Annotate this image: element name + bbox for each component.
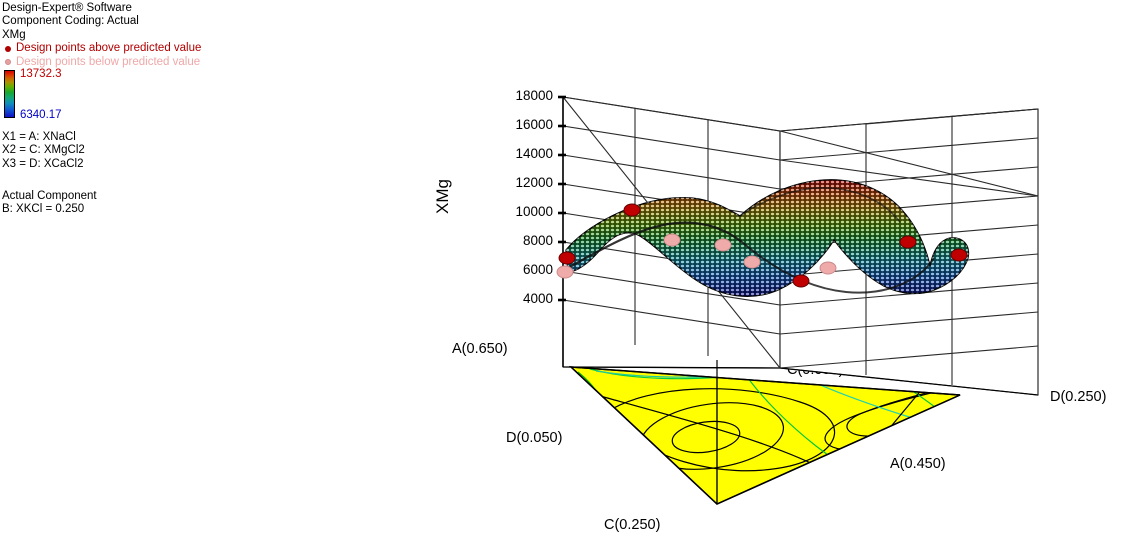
z-axis-tick-18000: 18000 bbox=[493, 89, 553, 103]
legend-panel: Design-Expert® Software Component Coding… bbox=[2, 2, 302, 69]
z-axis-title: XMg bbox=[433, 179, 453, 214]
variable-x1: X1 = A: XNaCl bbox=[2, 131, 262, 144]
color-scale-min-value: 6340.17 bbox=[20, 109, 62, 121]
z-axis-tick-12000: 12000 bbox=[493, 176, 553, 190]
design-point-below bbox=[744, 256, 760, 268]
component-coding: Component Coding: Actual bbox=[2, 15, 302, 28]
design-point-above bbox=[900, 236, 916, 248]
variable-mapping-panel: X1 = A: XNaCl X2 = C: XMgCl2 X3 = D: XCa… bbox=[2, 131, 262, 171]
z-axis-tick-10000: 10000 bbox=[493, 205, 553, 219]
design-point-below bbox=[557, 266, 573, 278]
ternary-label-a-high: A(0.650) bbox=[452, 342, 508, 357]
legend-points-above: Design points above predicted value bbox=[2, 42, 302, 55]
ternary-base-plane bbox=[571, 360, 986, 504]
design-point-above bbox=[559, 252, 575, 264]
variable-x3: X3 = D: XCaCl2 bbox=[2, 158, 262, 171]
ternary-label-d-high: D(0.250) bbox=[1050, 390, 1106, 405]
z-axis-tick-4000: 4000 bbox=[493, 292, 553, 306]
design-point-above bbox=[793, 275, 809, 287]
z-axis-tick-14000: 14000 bbox=[493, 147, 553, 161]
design-point-above bbox=[624, 204, 640, 216]
response-surface bbox=[566, 180, 969, 297]
legend-points-above-label: Design points above predicted value bbox=[16, 42, 201, 55]
variable-x2: X2 = C: XMgCl2 bbox=[2, 144, 262, 157]
z-axis-line bbox=[558, 97, 566, 367]
design-point-above bbox=[951, 249, 967, 261]
ternary-label-a-low: A(0.450) bbox=[890, 457, 946, 472]
design-point-below bbox=[820, 262, 836, 274]
design-point-above-icon bbox=[5, 46, 11, 52]
software-name: Design-Expert® Software bbox=[2, 2, 302, 15]
ternary-label-c-high: C(0.250) bbox=[604, 518, 660, 533]
color-scale-legend: 13732.3 6340.17 bbox=[2, 68, 202, 122]
design-point-below-icon bbox=[5, 59, 11, 65]
ternary-label-c-low: C(0.050) bbox=[787, 363, 843, 378]
ternary-label-d-low: D(0.050) bbox=[506, 431, 562, 446]
actual-component-header: Actual Component bbox=[2, 190, 262, 203]
actual-component-value: B: XKCl = 0.250 bbox=[2, 203, 262, 216]
design-point-below bbox=[664, 234, 680, 246]
color-scale-max-value: 13732.3 bbox=[20, 68, 62, 80]
z-axis-tick-16000: 16000 bbox=[493, 118, 553, 132]
response-name: XMg bbox=[2, 29, 302, 42]
color-scale-gradient-bar bbox=[4, 70, 15, 118]
design-points bbox=[557, 204, 967, 287]
z-axis-tick-6000: 6000 bbox=[493, 263, 553, 277]
design-point-below bbox=[715, 239, 731, 251]
actual-component-panel: Actual Component B: XKCl = 0.250 bbox=[2, 190, 262, 217]
z-axis-tick-8000: 8000 bbox=[493, 234, 553, 248]
